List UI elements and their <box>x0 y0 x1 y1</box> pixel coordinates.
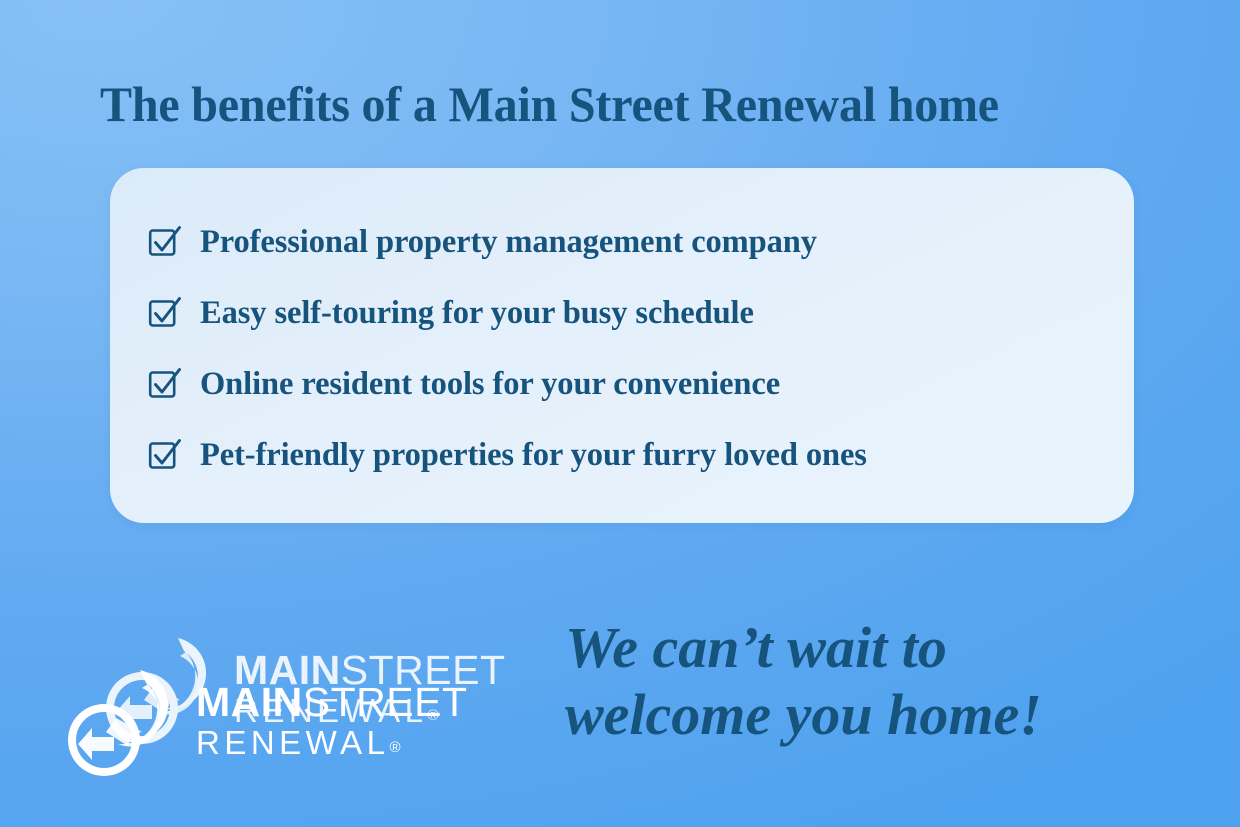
main-street-renewal-interlocking-rings-icon <box>62 660 186 784</box>
tagline: We can’t wait to welcome you home! <box>565 614 1185 748</box>
list-item: Online resident tools for your convenien… <box>148 348 1114 419</box>
list-item: Pet-friendly properties for your furry l… <box>148 419 1114 490</box>
list-item-label: Professional property management company <box>200 224 817 260</box>
tagline-line-1: We can’t wait to <box>565 614 1185 681</box>
brand-word-main: MAIN <box>196 679 303 725</box>
brand-logo-lockup[interactable]: MAINSTREET RENEWAL® <box>62 660 468 784</box>
list-item: Professional property management company <box>148 206 1114 277</box>
list-item-label: Pet-friendly properties for your furry l… <box>200 437 867 473</box>
tagline-line-2: welcome you home! <box>565 681 1185 748</box>
page-title: The benefits of a Main Street Renewal ho… <box>100 74 1118 134</box>
benefits-list: Professional property management company… <box>148 206 1114 490</box>
brand-wordmark: MAINSTREET RENEWAL® <box>196 678 468 766</box>
brand-word-street: STREET <box>303 679 468 725</box>
brand-word-renewal-line: RENEWAL® <box>196 725 468 766</box>
registered-trademark-icon: ® <box>389 739 400 756</box>
benefits-card: Professional property management company… <box>110 168 1134 523</box>
brand-name-line: MAINSTREET <box>196 680 468 724</box>
checked-checkbox-icon <box>148 224 182 258</box>
promo-poster: The benefits of a Main Street Renewal ho… <box>0 0 1240 827</box>
checked-checkbox-icon <box>148 437 182 471</box>
list-item: Easy self-touring for your busy schedule <box>148 277 1114 348</box>
list-item-label: Easy self-touring for your busy schedule <box>200 295 754 331</box>
list-item-label: Online resident tools for your convenien… <box>200 366 780 402</box>
checked-checkbox-icon <box>148 295 182 329</box>
checked-checkbox-icon <box>148 366 182 400</box>
brand-word-renewal: RENEWAL <box>196 724 389 761</box>
